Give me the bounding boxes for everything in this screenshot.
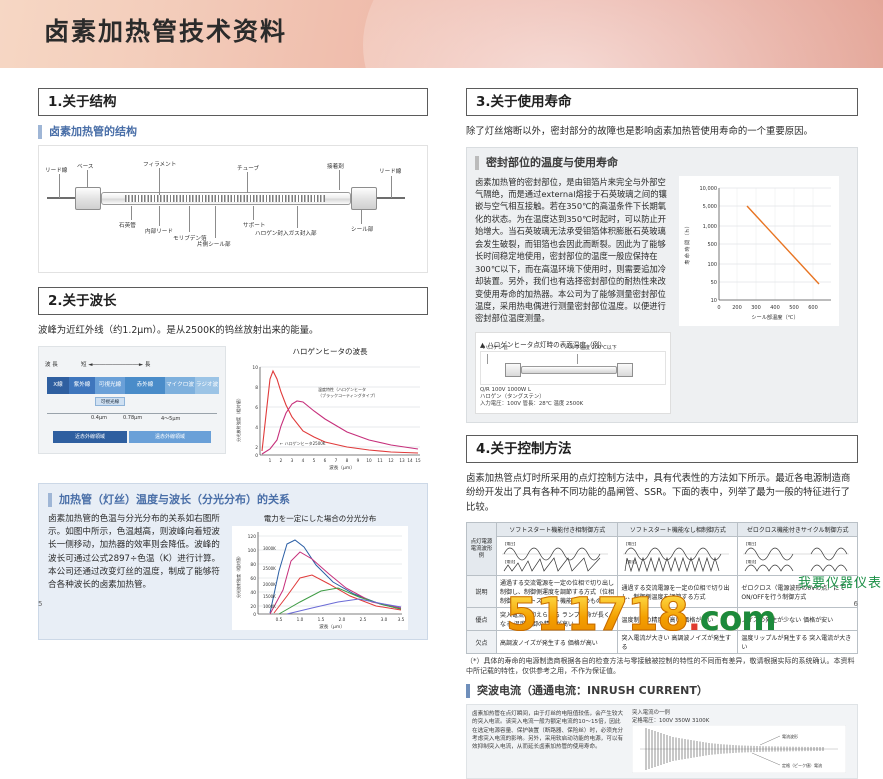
svg-text:0: 0: [255, 453, 258, 459]
lamp-spec-3: 入力電圧：100V 管長：28℃ 温度 2500K: [480, 401, 666, 408]
svg-text:（ブラックコーティングタイプ）: （ブラックコーティングタイプ）: [318, 392, 378, 398]
svg-text:【電圧】: 【電圧】: [503, 541, 517, 546]
svg-text:5,000: 5,000: [703, 204, 717, 210]
svg-text:0.5: 0.5: [276, 617, 283, 622]
inrush-annot-0: 電流波形: [782, 733, 798, 739]
svg-text:1,000: 1,000: [703, 224, 717, 230]
svg-text:2000K: 2000K: [263, 582, 276, 587]
svg-text:3000K: 3000K: [263, 546, 276, 551]
watermark-com: com: [700, 596, 776, 642]
svg-text:8: 8: [346, 458, 349, 463]
watermark-top-text: 我要仪器仪表: [798, 572, 882, 591]
section-1-heading: 1.关于结构: [38, 88, 428, 116]
section-3-body-2: 卤素加热管的密封部位，是由钼箔片来完全与外部空气隔绝，而是通过external熔…: [475, 176, 671, 325]
svg-text:40: 40: [250, 590, 256, 596]
wavelength-relation-panel: 加热管（灯丝）温度与波长（分光分布）的关系 卤素加热管的色温与分光分布的关系如右…: [38, 483, 428, 640]
band-infrared: 赤外線: [125, 377, 165, 394]
svg-text:50: 50: [711, 280, 717, 286]
svg-text:シール部温度（℃）: シール部温度（℃）: [751, 313, 798, 321]
svg-text:4: 4: [302, 458, 305, 463]
lead-wire-left: [47, 197, 75, 199]
left-column: 1.关于结构 卤素加热管的结构 リード線 ベース フィラメント チューブ 接着剤…: [38, 88, 428, 640]
svg-text:分光放射強度（相対値）: 分光放射強度（相対値）: [235, 554, 241, 598]
label-lead-left: リード線: [45, 166, 67, 174]
svg-text:2: 2: [255, 445, 258, 451]
page-number-left: 5: [38, 600, 42, 608]
svg-text:300: 300: [751, 305, 761, 311]
svg-text:200: 200: [732, 305, 742, 311]
table-row-label-0: 説明: [467, 576, 497, 608]
section-3-body: 除了灯丝熔断以外，密封部分的故障也是影响卤素加热管使用寿命的一个重要原因。: [466, 125, 858, 140]
svg-text:10,000: 10,000: [700, 186, 718, 192]
svg-text:3: 3: [291, 458, 294, 463]
svg-text:波長（μm）: 波長（μm）: [319, 623, 345, 630]
svg-text:13: 13: [399, 458, 405, 463]
svg-text:10: 10: [711, 298, 717, 304]
label-halogen-gas: ハロゲン封入ガス封入部: [255, 229, 317, 237]
section-2-body-2: 卤素加热管的色温与分光分布的关系如右图所示。如图中所示，色温越高，则波峰向着短波…: [48, 513, 224, 593]
svg-text:6: 6: [324, 458, 327, 463]
svg-text:波長（μm）: 波長（μm）: [329, 464, 355, 471]
band-tick-1: 0.4μm: [91, 415, 107, 421]
label-support: サポート: [243, 221, 265, 229]
right-column: 3.关于使用寿命 除了灯丝熔断以外，密封部分的故障也是影响卤素加热管使用寿命的一…: [466, 88, 858, 779]
band-visible: 可視光線: [95, 377, 125, 394]
band-xray: X線: [47, 377, 69, 394]
svg-text:12: 12: [388, 458, 394, 463]
svg-text:500: 500: [707, 242, 717, 248]
svg-text:11: 11: [377, 458, 383, 463]
svg-text:6: 6: [255, 405, 258, 411]
svg-text:8: 8: [255, 385, 258, 391]
chart-3: 10,000 5,000 1,000 500 100 50 10 0 200 3…: [679, 176, 839, 326]
chart-1: 108 64 20 123 456 789 101112 131415 波長（μ…: [232, 359, 428, 471]
inrush-body: 卤素加热管在点灯瞬间，由于灯丝的电阻值较低，会产生较大的突入电流。该突入电流一般…: [472, 710, 624, 751]
svg-text:0: 0: [253, 612, 256, 618]
table-corner-label: 点灯電源電流波形例: [471, 539, 493, 559]
svg-text:1500K: 1500K: [263, 594, 276, 599]
table-note: （*）具体的寿命的电源制造商根据各自的检查方法与零接触被控制的特性的不同而有差异…: [466, 657, 858, 676]
svg-text:100: 100: [248, 548, 257, 554]
svg-text:500: 500: [789, 305, 799, 311]
band-note-near-ir: 近赤外線領域: [53, 431, 127, 443]
svg-text:4: 4: [255, 425, 258, 431]
svg-text:2.5: 2.5: [360, 617, 367, 622]
section-2-heading: 2.关于波长: [38, 287, 428, 315]
band-tick-3: 4～5μm: [161, 415, 180, 422]
structure-figure: リード線 ベース フィラメント チューブ 接着剤 リード線 石英管 内部リード …: [38, 145, 428, 273]
svg-text:温度特性（ハロゲンヒータ: 温度特性（ハロゲンヒータ: [318, 386, 366, 392]
label-tube: チューブ: [237, 164, 259, 172]
band-visible-detail: 可視光線: [95, 397, 125, 406]
section-4-body: 卤素加热管点灯时所采用的点灯控制方法中，具有代表性的方法如下所示。最近各电源制造…: [466, 472, 858, 516]
filament-coil: [125, 195, 325, 202]
spectrum-band-figure: 波 長 短 ◄──────────────► 長 X線 紫外線 可視光線 赤外線…: [38, 346, 226, 454]
band-tick-2: 0.78μm: [123, 415, 142, 421]
svg-text:1.0: 1.0: [297, 617, 304, 622]
svg-text:2.0: 2.0: [339, 617, 346, 622]
lamp-figure: ハロゲン管 バルブ温度 200℃以下: [480, 351, 666, 385]
svg-text:7: 7: [335, 458, 338, 463]
svg-text:3.5: 3.5: [398, 617, 405, 622]
inrush-panel: 卤素加热管在点灯瞬间，由于灯丝的电阻值较低，会产生较大的突入电流。该突入电流一般…: [466, 704, 858, 779]
inrush-annot-1: 定格（ピーク値）電流: [782, 762, 822, 768]
chart-2-title: 電力を一定にした場合の分光分布: [232, 513, 408, 524]
section-4-heading: 4.关于控制方法: [466, 435, 858, 463]
waveform-cell-3: 【電圧】 【電流】: [738, 537, 858, 576]
svg-text:15: 15: [415, 458, 421, 463]
svg-text:100: 100: [707, 262, 717, 268]
scope-label-1: 定格電圧：100V 350W 3100K: [632, 718, 848, 725]
table-row-label-1: 優点: [467, 608, 497, 631]
waveform-cell-2: 【電圧】 【電流】: [618, 537, 738, 576]
svg-text:2500K: 2500K: [263, 566, 276, 571]
svg-text:1: 1: [269, 458, 272, 463]
section-2-subheading-2: 加热管（灯丝）温度与波长（分光分布）的关系: [48, 493, 418, 507]
section-3-heading: 3.关于使用寿命: [466, 88, 858, 116]
chart-2: 120100 8060 4020 0 0.51.01.5 2.02.53.0 3…: [232, 526, 408, 630]
lamp-label-bulb-temp: バルブ温度 200℃以下: [565, 344, 617, 351]
band-radio: ラジオ波: [195, 377, 219, 394]
svg-text:14: 14: [407, 458, 413, 463]
section-1-subheading: 卤素加热管的结构: [38, 125, 428, 139]
lamp-label-tube: ハロゲン管: [483, 344, 508, 351]
svg-text:1.5: 1.5: [318, 617, 325, 622]
svg-text:【電流】: 【電流】: [744, 559, 758, 564]
svg-text:10: 10: [252, 365, 258, 371]
svg-text:0: 0: [717, 305, 720, 311]
svg-text:2: 2: [280, 458, 283, 463]
svg-text:← ハロゲンヒータ2500K: ← ハロゲンヒータ2500K: [280, 440, 326, 446]
scope-label-0: 突入電流の一例: [632, 710, 848, 717]
section-3-subheading: 密封部位的温度与使用寿命: [475, 156, 849, 170]
label-single-seal: 片側シール部: [197, 240, 231, 248]
watermark: 我要仪器仪表 511718 . com: [506, 592, 883, 652]
svg-text:1000K: 1000K: [263, 604, 276, 609]
label-quartz: 石英管: [119, 221, 136, 229]
svg-text:60: 60: [250, 576, 256, 582]
base-right: [351, 187, 377, 210]
page-header: 卤素加热管技术资料: [0, 0, 883, 68]
svg-text:600: 600: [808, 305, 818, 311]
label-filament: フィラメント: [143, 160, 176, 168]
label-seal: シール部: [351, 225, 373, 233]
watermark-dot: .: [688, 596, 700, 642]
table-row-label-2: 欠点: [467, 631, 497, 654]
band-microwave: マイクロ波: [165, 377, 195, 394]
svg-text:3.0: 3.0: [381, 617, 388, 622]
svg-text:400: 400: [770, 305, 780, 311]
band-note-far-ir: 遠赤外線領域: [129, 431, 211, 443]
svg-text:分光放射強度（相対値）: 分光放射強度（相対値）: [235, 396, 242, 442]
label-adhesive: 接着剤: [327, 162, 344, 170]
table-col-3: ゼロクロス機能付きサイクル制御方式: [738, 523, 858, 537]
label-inner-lead: 内部リード: [145, 227, 173, 235]
seal-temperature-panel: 密封部位的温度与使用寿命 卤素加热管的密封部位，是由钼箔片来完全与外部空气隔绝，…: [466, 147, 858, 423]
table-col-2: ソフトスタート機能なし相制御方式: [618, 523, 738, 537]
svg-text:20: 20: [250, 604, 256, 610]
svg-text:寿 命 時 間 （ｈ）: 寿 命 時 間 （ｈ）: [684, 223, 691, 264]
band-uv: 紫外線: [69, 377, 95, 394]
waveform-cell-1: 【電圧】 【電流】: [497, 537, 618, 576]
svg-text:9: 9: [357, 458, 360, 463]
watermark-number: 511718: [506, 592, 688, 638]
svg-text:【電流】: 【電流】: [503, 559, 517, 564]
table-col-1: ソフトスタート機能付き相制御方式: [497, 523, 618, 537]
label-lead-right: リード線: [379, 167, 401, 175]
inrush-waveform: 電流波形 定格（ピーク値）電流: [632, 725, 846, 773]
svg-text:【電圧】: 【電圧】: [624, 541, 638, 546]
svg-text:10: 10: [366, 458, 372, 463]
svg-text:120: 120: [248, 534, 257, 540]
inrush-heading: 突波电流（通通电流：INRUSH CURRENT）: [466, 684, 858, 698]
svg-text:5: 5: [313, 458, 316, 463]
chart-1-title: ハロゲンヒータの波長: [232, 346, 428, 357]
svg-text:80: 80: [250, 562, 256, 568]
base-left: [75, 187, 101, 210]
section-2-body: 波峰为近红外线（约1.2μm）。是从2500K的钨丝放射出来的能量。: [38, 324, 428, 339]
page-title: 卤素加热管技术资料: [44, 12, 287, 48]
svg-text:【電圧】: 【電圧】: [744, 541, 758, 546]
label-base: ベース: [77, 162, 94, 170]
